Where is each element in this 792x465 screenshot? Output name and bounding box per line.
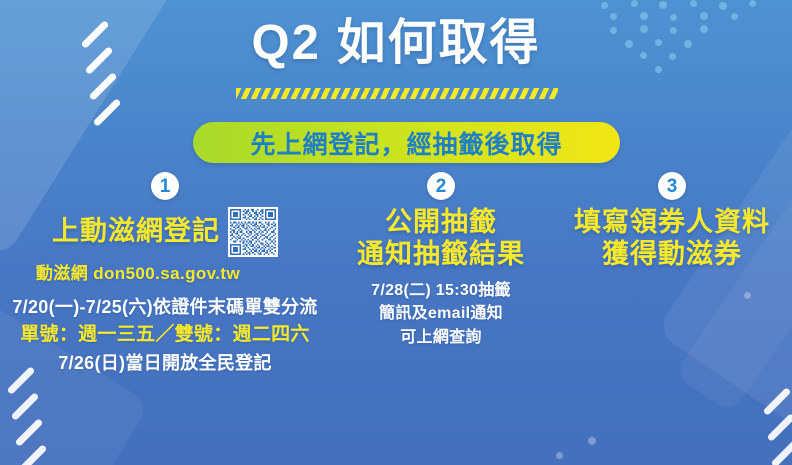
step-1-details: 7/20(一)-7/25(六)依證件末碼單雙分流 單號：週一三五／雙號：週二四六…	[0, 294, 330, 378]
slash-mark-icon	[767, 413, 792, 442]
step-2: 2 公開抽籤 通知抽籤結果 7/28(二) 15:30抽籤 簡訊及email通知…	[330, 172, 552, 378]
step-1-detail-line: 7/26(日)當日開放全民登記	[0, 350, 330, 377]
poster-canvas: Q2 如何取得 先上網登記，經抽籤後取得 1 上動滋網登記	[0, 0, 792, 465]
title-underline-dashes	[236, 88, 558, 99]
decor-dot	[601, 2, 608, 9]
step-3-heading-line-2: 獲得動滋券	[552, 239, 792, 271]
step-1-url[interactable]: 動滋網 don500.sa.gov.tw	[0, 259, 276, 284]
decor-dot	[659, 1, 667, 9]
slash-mark-icon	[771, 439, 792, 465]
qr-code-icon[interactable]	[228, 207, 278, 257]
decor-dot	[690, 0, 697, 7]
slash-mark-icon	[763, 387, 792, 416]
step-2-number-badge: 2	[427, 172, 455, 200]
slash-mark-icon	[89, 72, 118, 101]
slash-mark-icon	[15, 418, 44, 447]
step-1-heading: 上動滋網登記	[52, 216, 220, 248]
decor-dot	[588, 437, 596, 445]
summary-banner: 先上網登記，經抽籤後取得	[193, 122, 620, 163]
page-title: Q2 如何取得	[0, 18, 792, 69]
step-2-heading-line-2: 通知抽籤結果	[330, 239, 552, 271]
step-2-detail-line: 7/28(二) 15:30抽籤	[330, 279, 552, 303]
step-2-detail-line: 可上網查詢	[330, 326, 552, 350]
step-1-heading-row: 上動滋網登記	[0, 207, 330, 257]
decor-dot	[631, 0, 638, 7]
step-2-heading-line-1: 公開抽籤	[330, 207, 552, 239]
step-3-heading-line-1: 填寫領券人資料	[552, 207, 792, 239]
step-1-number-badge: 1	[151, 172, 179, 200]
step-3-number-badge: 3	[658, 172, 686, 200]
decor-dot	[749, 0, 756, 7]
step-2-details: 7/28(二) 15:30抽籤 簡訊及email通知 可上網查詢	[330, 279, 552, 350]
steps-container: 1 上動滋網登記	[0, 172, 792, 378]
step-1-detail-line: 單號：週一三五／雙號：週二四六	[0, 321, 330, 350]
decor-dot	[719, 2, 727, 10]
slash-mark-icon	[11, 392, 40, 421]
step-1-detail-line: 7/20(一)-7/25(六)依證件末碼單雙分流	[0, 294, 330, 321]
decor-dot	[556, 452, 563, 459]
step-1: 1 上動滋網登記	[0, 172, 330, 378]
step-3: 3 填寫領券人資料 獲得動滋券	[552, 172, 792, 378]
step-2-detail-line: 簡訊及email通知	[330, 302, 552, 326]
qr-code-graphic	[230, 209, 276, 255]
slash-mark-icon	[19, 444, 48, 465]
slash-mark-icon	[93, 98, 122, 127]
summary-banner-text: 先上網登記，經抽籤後取得	[250, 125, 562, 161]
